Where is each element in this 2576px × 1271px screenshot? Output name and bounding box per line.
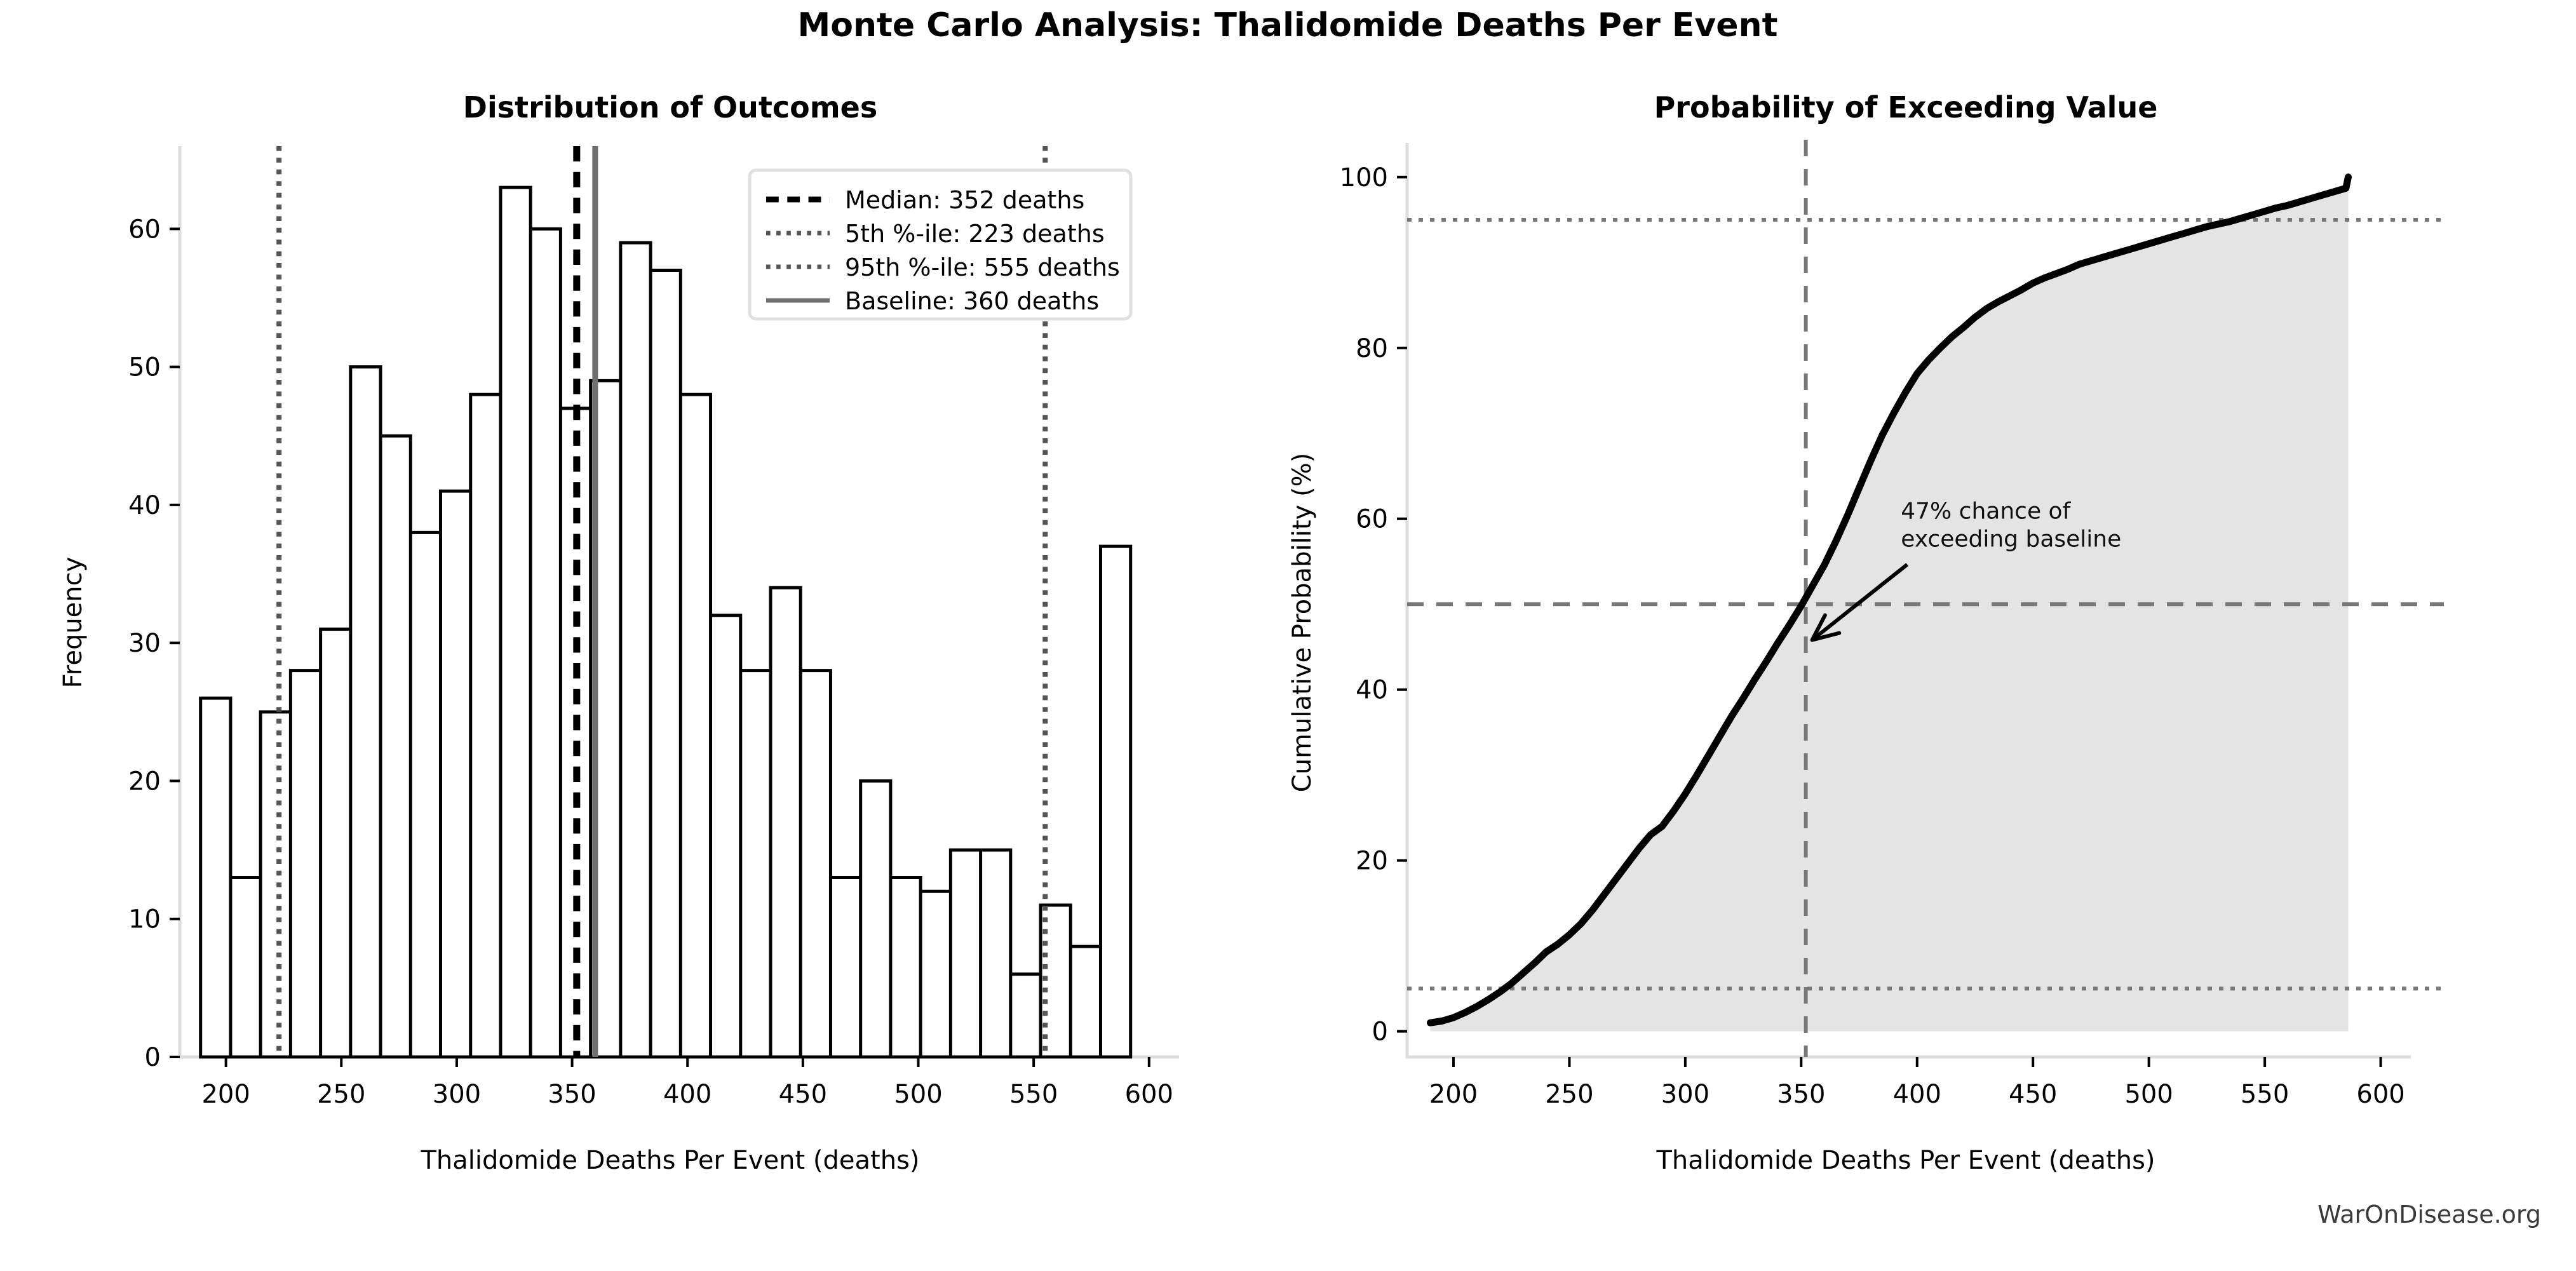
right-xtick-label-450: 450 <box>2009 1080 2057 1109</box>
left-xaxis-label: Thalidomide Deaths Per Event (deaths) <box>420 1146 919 1175</box>
right-xtick-label-400: 400 <box>1893 1080 1941 1109</box>
right-xtick-label-200: 200 <box>1429 1080 1478 1109</box>
right-xtick-label-550: 550 <box>2241 1080 2289 1109</box>
left-xtick-label-500: 500 <box>894 1080 942 1109</box>
legend-label-1: 5th %-ile: 223 deaths <box>845 220 1105 248</box>
right-ytick-label-40: 40 <box>1356 676 1388 705</box>
right-xtick-label-350: 350 <box>1777 1080 1825 1109</box>
left-ytick-label-30: 30 <box>128 629 161 658</box>
left-ytick-label-0: 0 <box>145 1043 161 1072</box>
left-xtick-label-550: 550 <box>1009 1080 1058 1109</box>
left-ytick-label-40: 40 <box>128 491 161 520</box>
legend-label-2: 95th %-ile: 555 deaths <box>845 253 1120 281</box>
left-xtick-label-400: 400 <box>663 1080 711 1109</box>
left-yaxis-label: Frequency <box>58 557 88 689</box>
left-ytick-label-10: 10 <box>128 905 161 934</box>
right-ytick-label-20: 20 <box>1356 847 1388 876</box>
left-xtick-label-200: 200 <box>201 1080 250 1109</box>
left-ytick-label-20: 20 <box>128 767 161 796</box>
right-ytick-label-100: 100 <box>1340 163 1388 192</box>
left-xtick-label-450: 450 <box>779 1080 827 1109</box>
annotation-line-2: exceeding baseline <box>1901 527 2121 553</box>
footer-credit: WarOnDisease.org <box>2317 1200 2541 1228</box>
right-xaxis-label: Thalidomide Deaths Per Event (deaths) <box>1656 1146 2155 1175</box>
right-ytick-label-80: 80 <box>1356 334 1388 363</box>
legend-label-3: Baseline: 360 deaths <box>845 287 1099 315</box>
left-xtick-label-350: 350 <box>548 1080 596 1109</box>
annotation-line-1: 47% chance of <box>1901 499 2071 525</box>
left-xtick-label-250: 250 <box>317 1080 365 1109</box>
left-ytick-label-50: 50 <box>128 353 161 382</box>
right-yaxis-label: Cumulative Probability (%) <box>1288 453 1317 792</box>
right-xtick-label-500: 500 <box>2124 1080 2173 1109</box>
right-xtick-label-300: 300 <box>1661 1080 1709 1109</box>
right-ytick-label-0: 0 <box>1372 1018 1388 1047</box>
right-panel-title: Probability of Exceeding Value <box>1654 90 2158 124</box>
left-xtick-label-600: 600 <box>1125 1080 1173 1109</box>
left-panel-title: Distribution of Outcomes <box>463 90 877 124</box>
right-xtick-label-250: 250 <box>1545 1080 1593 1109</box>
left-ytick-label-60: 60 <box>128 215 161 244</box>
monte-carlo-figure: Monte Carlo Analysis: Thalidomide Deaths… <box>0 0 2576 1271</box>
right-xtick-label-600: 600 <box>2356 1080 2404 1109</box>
right-ytick-label-60: 60 <box>1356 505 1388 534</box>
legend-label-0: Median: 352 deaths <box>845 186 1084 214</box>
figure-suptitle: Monte Carlo Analysis: Thalidomide Deaths… <box>798 6 1778 44</box>
left-xtick-label-300: 300 <box>433 1080 481 1109</box>
